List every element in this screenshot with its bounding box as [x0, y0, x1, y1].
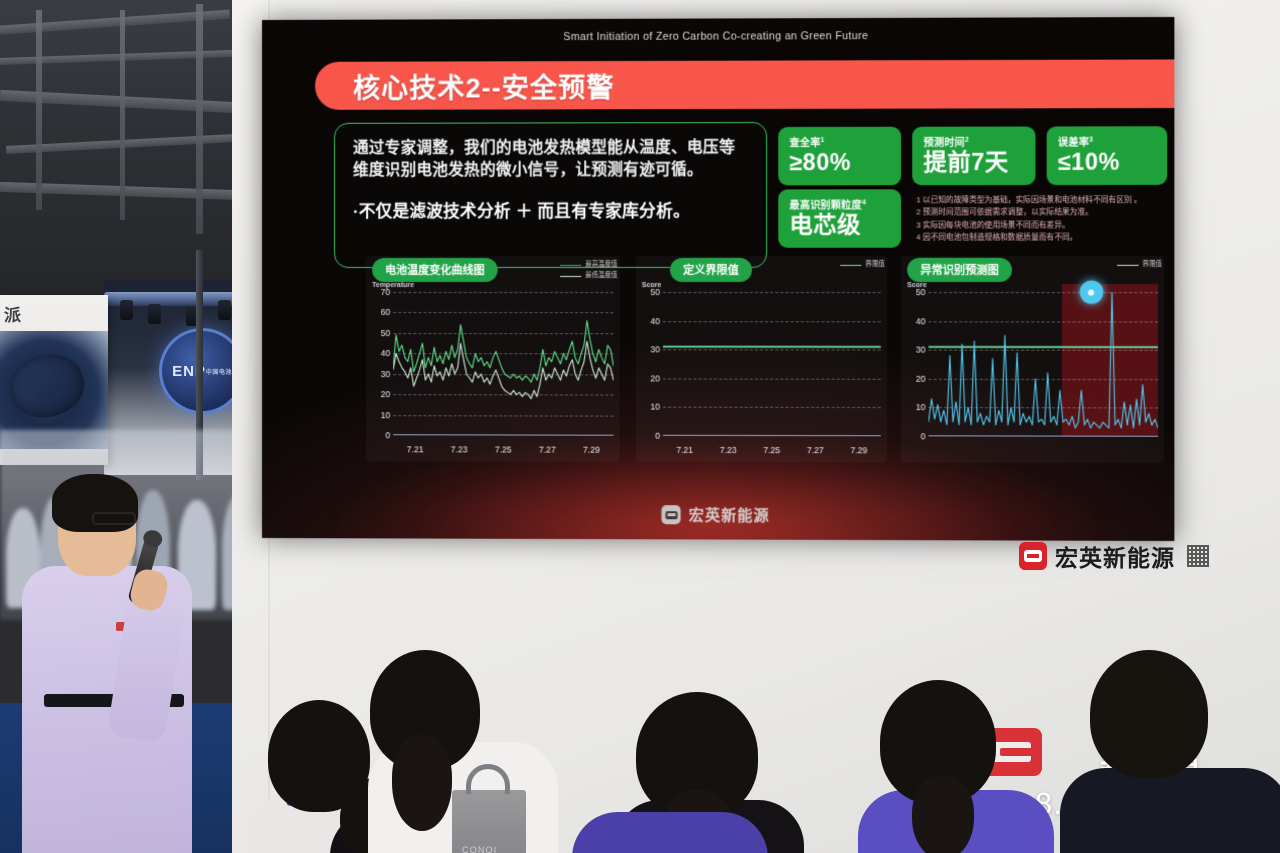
series-line — [393, 341, 613, 399]
slide-title-bar: 核心技术2--安全预警 — [315, 59, 1174, 109]
y-axis-tick: 0 — [903, 431, 925, 441]
slide-title: 核心技术2--安全预警 — [353, 66, 614, 106]
stat-label: 查全率1 — [789, 134, 889, 149]
x-axis-tick: 7.23 — [451, 444, 468, 454]
chart-title: 异常识别预测图 — [907, 258, 1012, 282]
chart-anomaly-prediction: 异常识别预测图 界限值 Score 01020304050 — [901, 256, 1164, 463]
legend-label: 最低温度值 — [585, 271, 617, 282]
y-axis-tick: 20 — [638, 373, 660, 383]
stat-value: ≥80% — [789, 150, 889, 176]
y-axis-tick: 20 — [368, 389, 390, 399]
slide-tagline: Smart Initiation of Zero Carbon Co-creat… — [262, 29, 1174, 44]
legend-label: 最高温度值 — [585, 260, 617, 271]
ceiling-truss — [120, 10, 125, 220]
hongying-mark-icon — [661, 505, 680, 524]
hongying-logo-icon — [1019, 542, 1047, 570]
audience-ponytail — [392, 735, 452, 831]
ceiling-truss — [36, 10, 42, 210]
stat-value: 提前7天 — [923, 150, 1024, 176]
legend-label: 界限值 — [865, 260, 884, 271]
chart-legend: 界限值 — [1117, 260, 1162, 271]
projection-screen: Smart Initiation of Zero Carbon Co-creat… — [262, 17, 1174, 541]
tote-bag: CONOI — [452, 790, 526, 853]
chart-threshold-definition: 定义界限值 界限值 Score 010203040507.217.237.257… — [636, 256, 887, 463]
booth-panel-title: 派 — [4, 301, 22, 326]
y-axis-tick: 10 — [638, 402, 660, 412]
y-axis-tick: 10 — [368, 410, 390, 420]
spotlight-icon — [120, 300, 133, 320]
y-axis-tick: 50 — [903, 287, 925, 297]
stat-label: 最高识别颗粒度4 — [789, 196, 889, 211]
anomaly-alert-marker[interactable] — [1080, 281, 1103, 304]
wall-brand-name: 宏英新能源 — [1055, 539, 1175, 573]
hall-ceiling — [0, 0, 260, 300]
chart-legend: 界限值 — [840, 260, 885, 271]
y-axis-tick: 50 — [638, 287, 660, 297]
y-axis-tick: 40 — [638, 316, 660, 326]
body-lead-text: 通过专家调整，我们的电池发热模型能从温度、电压等维度识别电池发热的微小信号，让预… — [353, 137, 748, 182]
chart-series-svg — [929, 292, 1158, 437]
footnote-item: 3 实际因每块电池的使用场景不同而有差异。 — [916, 219, 1171, 232]
x-axis-tick: 7.27 — [807, 445, 824, 455]
y-axis-tick: 0 — [368, 430, 390, 440]
y-axis-tick: 30 — [903, 345, 925, 355]
chart-plot-area: 01020304050 — [929, 292, 1158, 437]
presentation-slide: Smart Initiation of Zero Carbon Co-creat… — [262, 17, 1174, 541]
chart-plot-area: 0102030405060707.217.237.257.277.29 — [393, 292, 613, 436]
stat-label: 预测时间2 — [923, 134, 1024, 149]
chart-battery-temperature: 电池温度变化曲线图 最高温度值 最低温度值 Temperature 010203… — [366, 256, 619, 462]
y-axis-tick: 50 — [368, 328, 390, 338]
slide-brand-name: 宏英新能源 — [689, 504, 770, 525]
x-axis-tick: 7.21 — [676, 445, 693, 455]
chart-title: 电池温度变化曲线图 — [372, 258, 498, 282]
body-bullet-text: ·不仅是滤波技术分析 ＋ 而且有专家库分析。 — [353, 197, 748, 221]
stat-label: 误差率3 — [1058, 133, 1156, 148]
stat-card-lead-time: 预测时间2 提前7天 — [912, 127, 1035, 185]
chart-series-svg — [663, 292, 881, 436]
chart-title: 定义界限值 — [670, 258, 752, 282]
audience-member-shoulder — [572, 812, 768, 853]
charts-row: 电池温度变化曲线图 最高温度值 最低温度值 Temperature 010203… — [262, 256, 1174, 484]
x-axis-tick: 7.27 — [539, 445, 556, 455]
stat-value: ≤10% — [1058, 150, 1156, 176]
spotlight-icon — [148, 304, 161, 324]
y-axis-tick: 20 — [903, 374, 925, 384]
stat-value: 电芯级 — [789, 212, 889, 238]
x-axis-tick: 7.23 — [720, 445, 737, 455]
x-axis-tick: 7.21 — [407, 444, 424, 454]
y-axis-tick: 40 — [903, 316, 925, 326]
audience-member-shoulder — [1060, 768, 1280, 853]
x-axis-tick: 7.29 — [850, 445, 867, 455]
chart-legend: 最高温度值 最低温度值 — [560, 260, 617, 282]
x-axis-tick: 7.29 — [583, 445, 600, 455]
footnote-item: 4 因不同电池包制造规格和数据质量而有不同。 — [916, 231, 1171, 244]
stat-card-recall: 查全率1 ≥80% — [778, 127, 901, 185]
series-line — [929, 292, 1158, 428]
chart-plot-area: 010203040507.217.237.257.277.29 — [663, 292, 881, 436]
slide-brand: 宏英新能源 — [661, 504, 769, 525]
y-axis-tick: 40 — [368, 348, 390, 358]
presenter-glasses-icon — [92, 512, 136, 525]
legend-label: 界限值 — [1142, 260, 1162, 271]
footnote-item: 2 预测时间范围可依据需求调整，以实际结果为准。 — [916, 206, 1171, 219]
wall-brand-logo: 宏英新能源 — [1019, 539, 1209, 573]
stat-card-error-rate: 误差率3 ≤10% — [1047, 126, 1168, 185]
ceiling-truss — [196, 4, 203, 234]
y-axis-tick: 0 — [638, 431, 660, 441]
y-axis-tick: 30 — [638, 345, 660, 355]
audience-head — [1090, 650, 1208, 778]
x-axis-tick: 7.25 — [495, 444, 512, 454]
y-axis-tick: 10 — [903, 402, 925, 412]
audience-ponytail — [912, 776, 974, 853]
x-axis-tick: 7.25 — [763, 445, 780, 455]
exhibition-photo-scene: ENP中国电池 派 Smart Initiation of Zero Carbo… — [0, 0, 1280, 853]
spotlight-icon — [218, 300, 231, 320]
y-axis-tick: 60 — [368, 307, 390, 317]
qr-code-icon — [1187, 545, 1209, 567]
slide-footnotes: 1 以已知的故障类型为基础，实际因场景和电池材料不同有区别 。 2 预测时间范围… — [916, 194, 1171, 244]
footnote-item: 1 以已知的故障类型为基础，实际因场景和电池材料不同有区别 。 — [916, 194, 1171, 207]
y-axis-tick: 30 — [368, 369, 390, 379]
stat-card-granularity: 最高识别颗粒度4 电芯级 — [778, 189, 901, 247]
slide-body-card: 通过专家调整，我们的电池发热模型能从温度、电压等维度识别电池发热的微小信号，让预… — [334, 122, 767, 268]
y-axis-tick: 70 — [368, 287, 390, 297]
chart-series-svg — [393, 292, 613, 436]
bag-label: CONOI — [462, 845, 498, 853]
